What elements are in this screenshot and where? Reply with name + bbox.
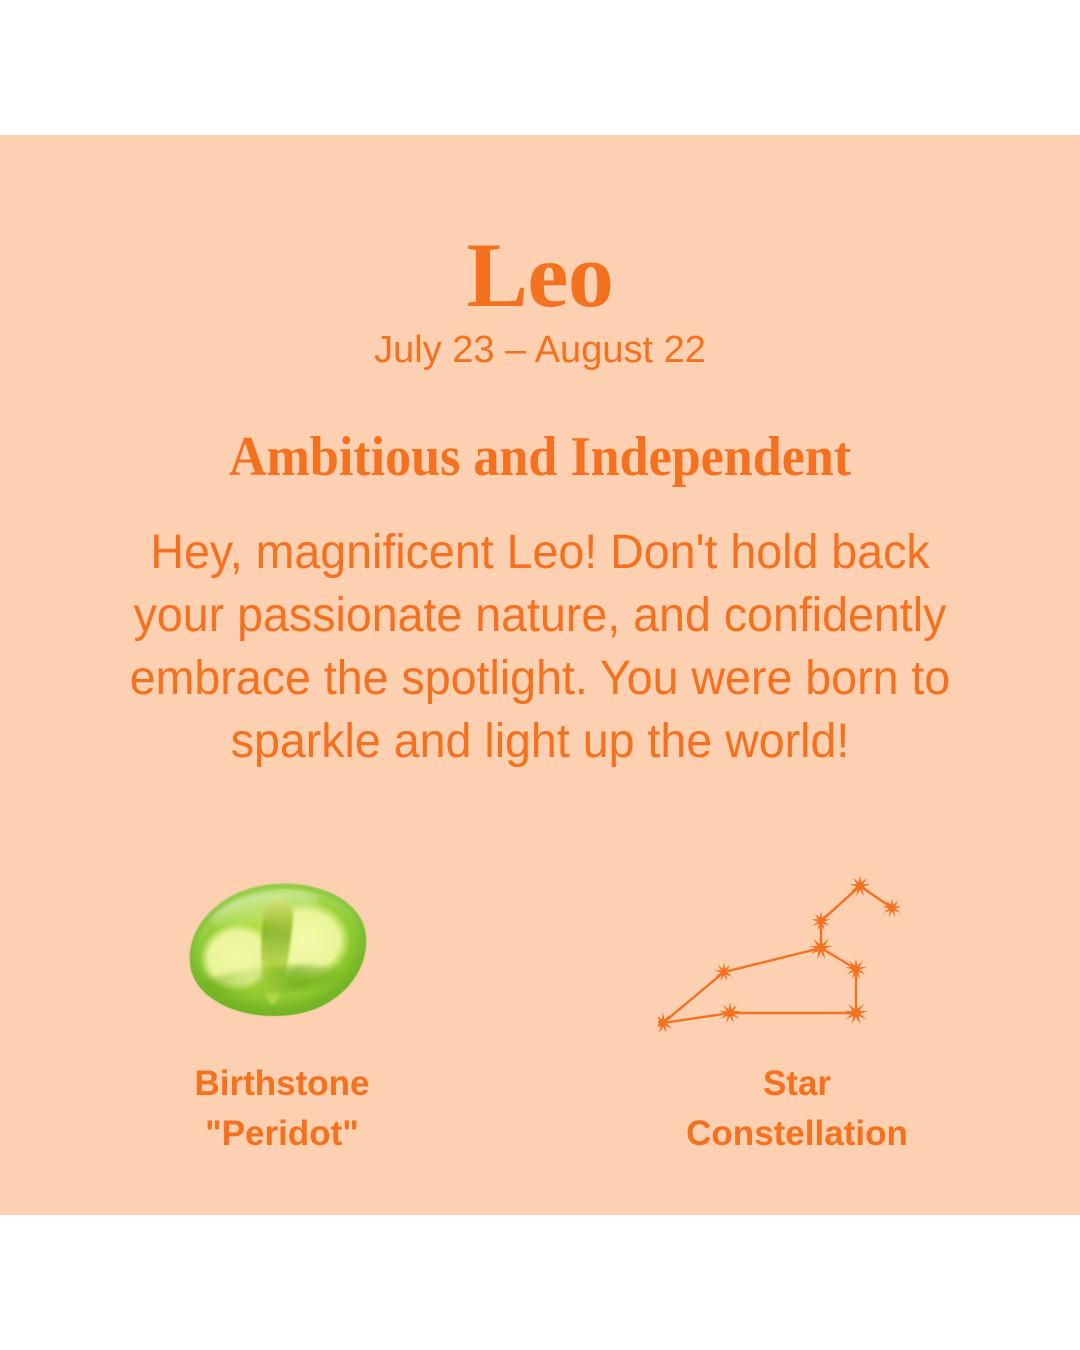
constellation-caption-line1: Star [582, 1059, 1012, 1109]
leo-constellation-icon [658, 870, 918, 1035]
feature-constellation: Star Constellation [582, 870, 1012, 1159]
constellation-caption-line2: Constellation [582, 1109, 1012, 1159]
gem-edge [182, 874, 375, 1027]
page-title: Leo [0, 229, 1080, 321]
feature-birthstone: Birthstone "Peridot" [67, 870, 497, 1159]
message-paragraph: Hey, magnificent Leo! Don't hold back yo… [108, 521, 971, 773]
zodiac-card: Leo July 23 – August 22 Ambitious and In… [0, 135, 1080, 1215]
date-range-label: July 23 – August 22 [0, 327, 1080, 375]
birthstone-caption: Birthstone "Peridot" [67, 1059, 497, 1159]
constellation-art [582, 870, 1012, 1045]
constellation-line [821, 886, 860, 921]
birthstone-caption-line2: "Peridot" [67, 1109, 497, 1159]
constellation-star [882, 898, 902, 917]
tagline-heading: Ambitious and Independent [38, 427, 1042, 489]
peridot-gemstone-icon [189, 884, 367, 1016]
constellation-line [724, 948, 821, 972]
birthstone-caption-line1: Birthstone [67, 1059, 497, 1109]
constellation-caption: Star Constellation [582, 1059, 1012, 1159]
birthstone-art [67, 870, 497, 1045]
constellation-star [809, 936, 833, 959]
